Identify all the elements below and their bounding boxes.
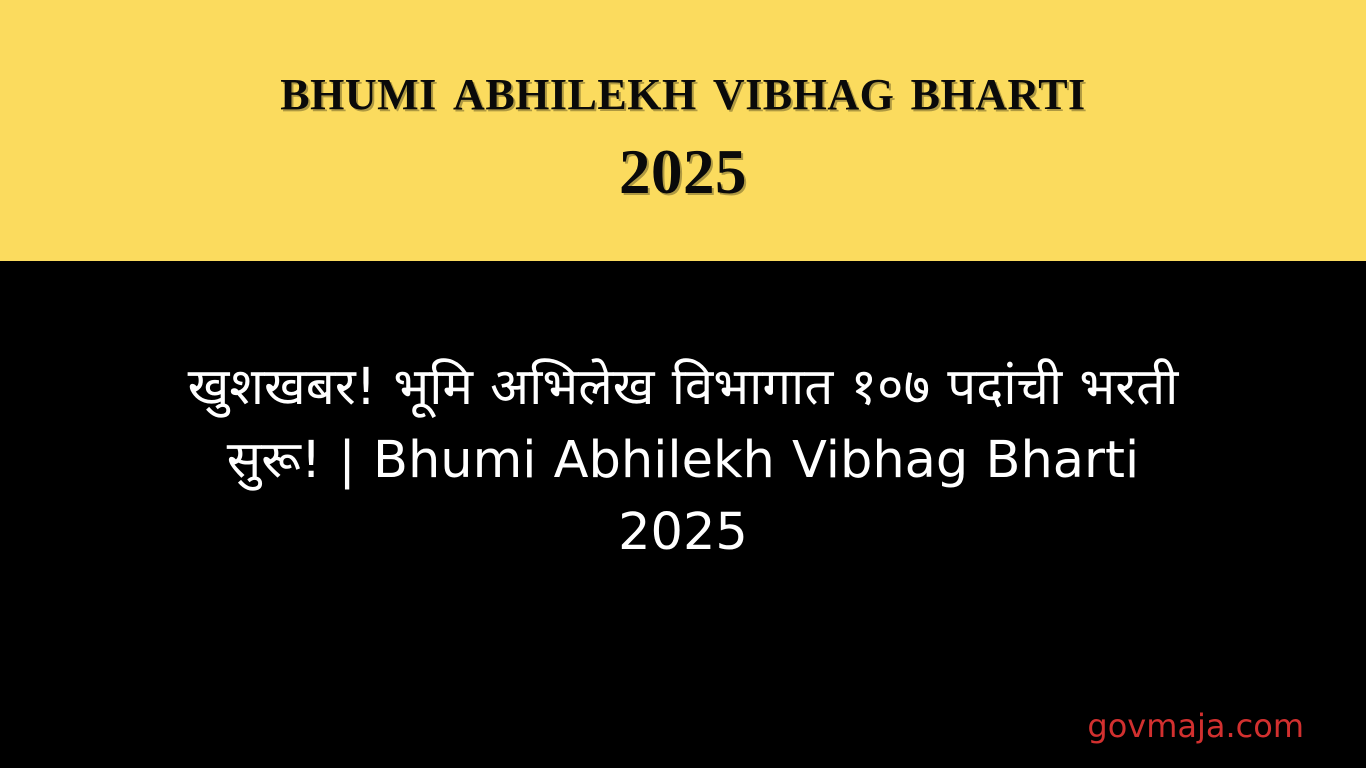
poster-canvas: Bhumi Abhilekh Vibhag Bharti 2025 खुशखबर…	[0, 0, 1366, 768]
black-content-band: खुशखबर! भूमि अभिलेख विभागात १०७ पदांची भ…	[0, 261, 1366, 768]
headline-container: खुशखबर! भूमि अभिलेख विभागात १०७ पदांची भ…	[0, 261, 1366, 661]
page-title: Bhumi Abhilekh Vibhag Bharti 2025	[178, 47, 1188, 213]
headline-text: खुशखबर! भूमि अभिलेख विभागात १०७ पदांची भ…	[178, 352, 1188, 569]
site-watermark: govmaja.com	[1087, 710, 1304, 742]
yellow-banner-band: Bhumi Abhilekh Vibhag Bharti 2025	[0, 0, 1366, 261]
